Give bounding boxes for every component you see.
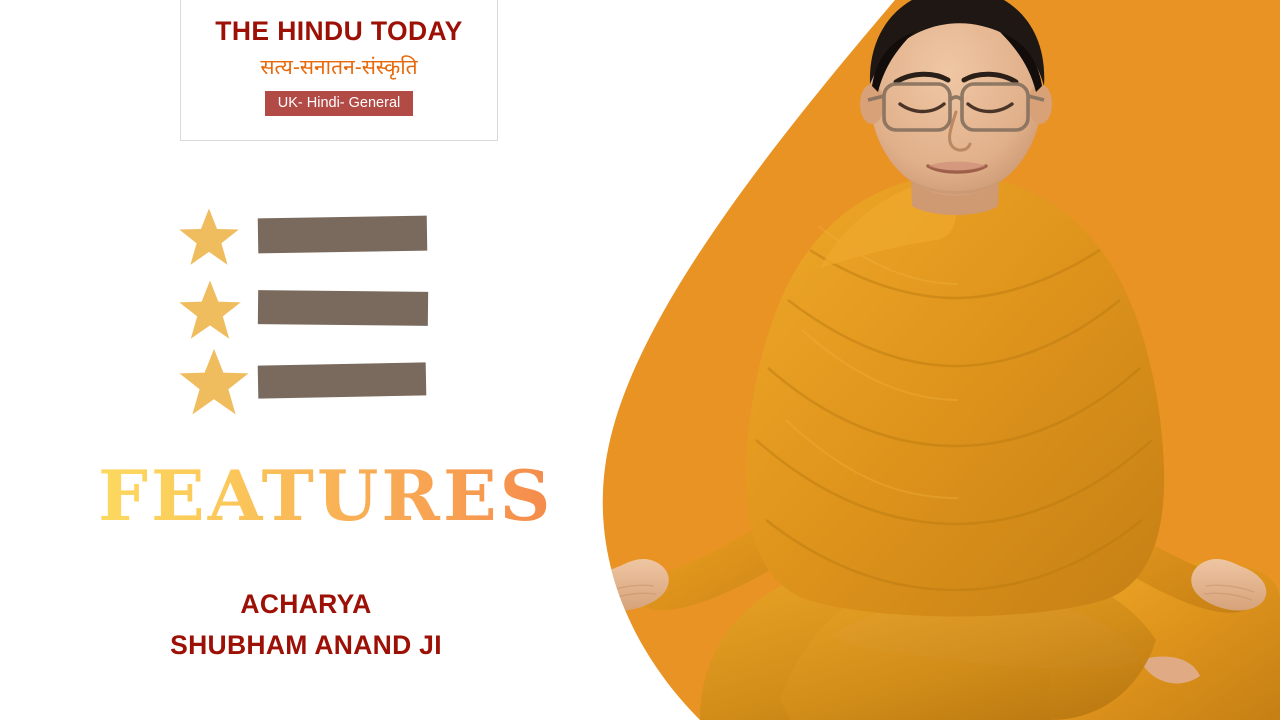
bullet-bar <box>258 362 427 398</box>
accent-shape <box>580 0 1280 720</box>
speaker-name: SHUBHAM ANAND JI <box>0 625 612 666</box>
bullet-bar <box>258 290 428 326</box>
star-icon <box>178 346 250 418</box>
brand-category-badge: UK- Hindi- General <box>265 91 414 117</box>
speaker-title: ACHARYA <box>0 584 612 625</box>
headline-wrap: FEATURES <box>98 461 568 533</box>
poster-canvas: THE HINDU TODAY सत्य-सनातन-संस्कृति UK- … <box>0 0 1280 720</box>
portrait-panel <box>580 0 1280 720</box>
ear-left <box>860 84 884 124</box>
brand-title: THE HINDU TODAY <box>215 18 462 45</box>
bullet-bar <box>258 216 428 254</box>
brand-subtitle: सत्य-सनातन-संस्कृति <box>260 57 417 78</box>
speaker-name-block: ACHARYA SHUBHAM ANAND JI <box>0 584 612 666</box>
ear-right <box>1028 84 1052 124</box>
star-icon <box>178 278 242 342</box>
masthead-card: THE HINDU TODAY सत्य-सनातन-संस्कृति UK- … <box>180 0 498 141</box>
star-icon <box>178 206 240 268</box>
feature-bullet-list <box>178 198 478 413</box>
headline-features: FEATURES <box>98 461 577 533</box>
